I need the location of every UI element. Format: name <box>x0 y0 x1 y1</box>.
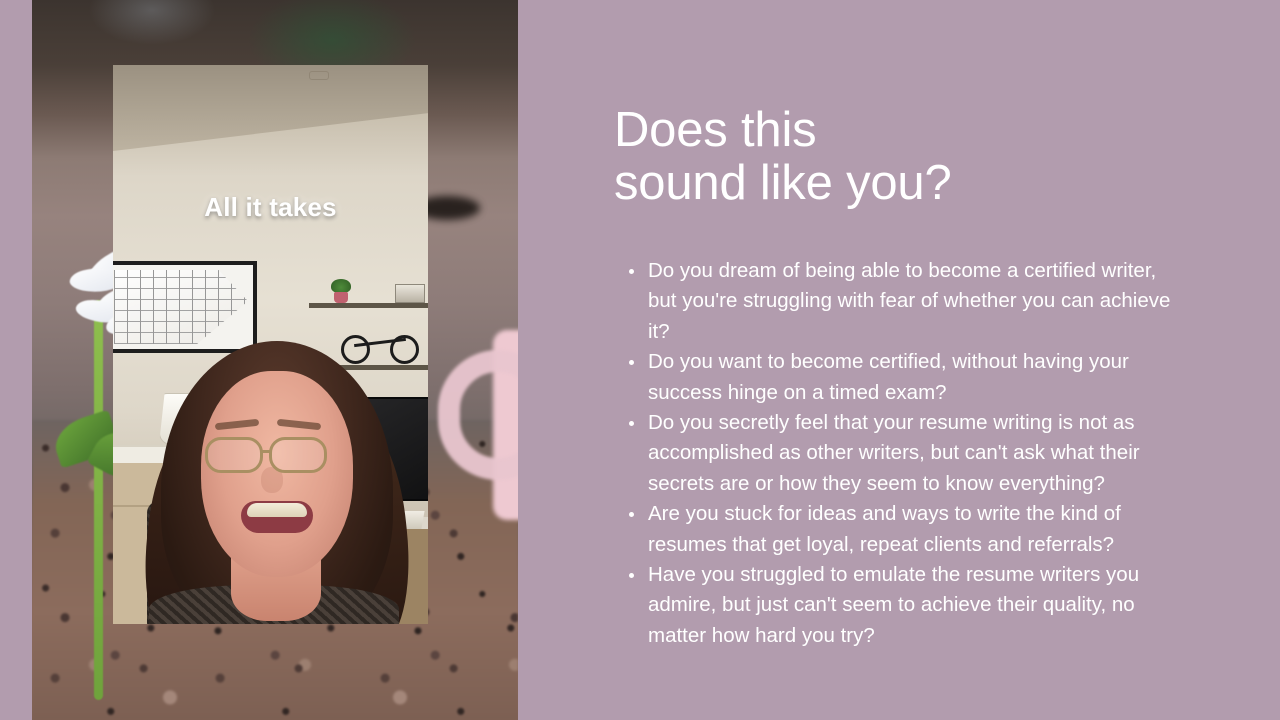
slide-title: Does thissound like you? <box>614 104 1134 210</box>
list-item: Have you struggled to emulate the resume… <box>622 560 1188 651</box>
video-caption-text: All it takes <box>113 192 428 223</box>
eyeglasses-lens <box>269 437 327 473</box>
framed-wall-art <box>113 261 257 353</box>
presentation-slide: All it takes Does thissound like you? Do… <box>0 0 1280 720</box>
list-item: Do you dream of being able to become a c… <box>622 256 1188 347</box>
slide-title-line-2-end: ? <box>924 156 951 210</box>
flower-stem <box>94 300 103 700</box>
bicycle-wheel <box>341 335 370 364</box>
framed-wall-art-image <box>114 270 248 344</box>
list-item: Are you stuck for ideas and ways to writ… <box>622 499 1188 560</box>
slide-content-column: Does thissound like you? Do you dream of… <box>614 0 1214 720</box>
eyeglasses-lens <box>205 437 263 473</box>
slide-bullet-list: Do you dream of being able to become a c… <box>622 256 1188 651</box>
slide-title-line-2-plain: sound like <box>614 156 846 210</box>
slide-title-emphasis: you <box>846 156 924 210</box>
shelf-box <box>395 284 425 303</box>
slide-title-line-1: Does this <box>614 103 816 157</box>
list-item: Do you secretly feel that your resume wr… <box>622 408 1188 499</box>
video-media-panel[interactable]: All it takes <box>32 0 518 720</box>
ceiling-vent-icon <box>309 71 329 80</box>
video-frame[interactable]: All it takes <box>113 65 428 624</box>
shelf-plant <box>331 279 351 293</box>
person-teeth <box>247 503 307 517</box>
eyeglasses-bridge <box>262 450 272 453</box>
bicycle-ornament <box>341 327 419 365</box>
shelf-plant-pot <box>334 292 348 303</box>
wall-shelf <box>309 303 428 308</box>
list-item: Do you want to become certified, without… <box>622 347 1188 408</box>
